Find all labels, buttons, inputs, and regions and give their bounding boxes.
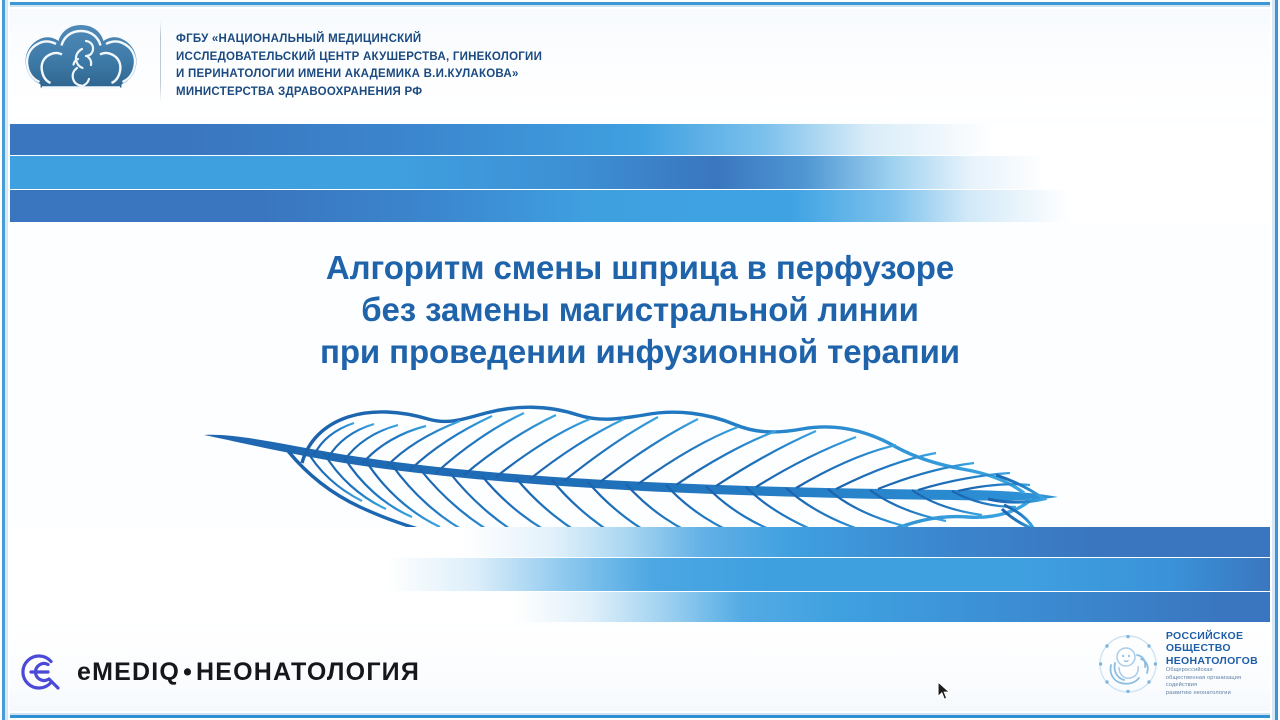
emediq-brand: eMEDIQ [77, 658, 180, 686]
slide-canvas: ФГБУ «НАЦИОНАЛЬНЫЙ МЕДИЦИНСКИЙ ИССЛЕДОВА… [8, 7, 1272, 713]
header-divider [160, 21, 161, 103]
title-line: при проведении инфузионной терапии [8, 331, 1272, 373]
maternity-cloud-emblem-icon [20, 19, 142, 109]
emediq-logo: eMEDIQ•НЕОНАТОЛОГИЯ [18, 649, 420, 695]
emediq-wordmark: eMEDIQ•НЕОНАТОЛОГИЯ [77, 658, 420, 687]
rson-sub-line: Общероссийская [1166, 667, 1258, 674]
title-line: Алгоритм смены шприца в перфузоре [8, 247, 1272, 289]
title-line: без замены магистральной линии [8, 289, 1272, 331]
decorative-band-top-3 [8, 190, 1272, 222]
presentation-slide: ФГБУ «НАЦИОНАЛЬНЫЙ МЕДИЦИНСКИЙ ИССЛЕДОВА… [0, 0, 1280, 720]
russian-society-of-neonatologists-logo: РОССИЙСКОЕ ОБЩЕСТВО НЕОНАТОЛОГОВ Общерос… [1097, 630, 1258, 699]
org-name-line: И ПЕРИНАТОЛОГИИ ИМЕНИ АКАДЕМИКА В.И.КУЛА… [176, 66, 796, 84]
russian-society-text: РОССИЙСКОЕ ОБЩЕСТВО НЕОНАТОЛОГОВ Общерос… [1166, 630, 1258, 699]
emediq-section: НЕОНАТОЛОГИЯ [196, 658, 420, 686]
organization-name: ФГБУ «НАЦИОНАЛЬНЫЙ МЕДИЦИНСКИЙ ИССЛЕДОВА… [176, 31, 796, 101]
rson-main-line: РОССИЙСКОЕ [1166, 630, 1258, 643]
infant-in-hands-emblem-icon [1097, 633, 1159, 695]
org-name-line: ФГБУ «НАЦИОНАЛЬНЫЙ МЕДИЦИНСКИЙ [176, 31, 796, 49]
decorative-band-bottom-2 [8, 558, 1272, 591]
rson-main-line: ОБЩЕСТВО [1166, 642, 1258, 655]
org-name-line: МИНИСТЕРСТВА ЗДРАВООХРАНЕНИЯ РФ [176, 84, 796, 102]
decorative-band-bottom-3 [8, 592, 1272, 622]
feather-quill-icon [196, 389, 1096, 549]
decorative-band-top-1 [8, 124, 1272, 155]
org-name-line: ИССЛЕДОВАТЕЛЬСКИЙ ЦЕНТР АКУШЕРСТВА, ГИНЕ… [176, 49, 796, 67]
decorative-band-bottom-1 [8, 527, 1272, 557]
rson-sub-line: развитию неонатологии [1166, 690, 1258, 697]
slide-title: Алгоритм смены шприца в перфузоре без за… [8, 247, 1272, 373]
decorative-band-top-2 [8, 156, 1272, 189]
slide-header: ФГБУ «НАЦИОНАЛЬНЫЙ МЕДИЦИНСКИЙ ИССЛЕДОВА… [8, 7, 1272, 117]
emediq-circle-e-icon [18, 649, 64, 695]
slide-footer: eMEDIQ•НЕОНАТОЛОГИЯ [8, 627, 1272, 713]
rson-sub-line: содействия [1166, 682, 1258, 689]
rson-main-line: НЕОНАТОЛОГОВ [1166, 655, 1258, 668]
emediq-separator: • [180, 658, 196, 686]
